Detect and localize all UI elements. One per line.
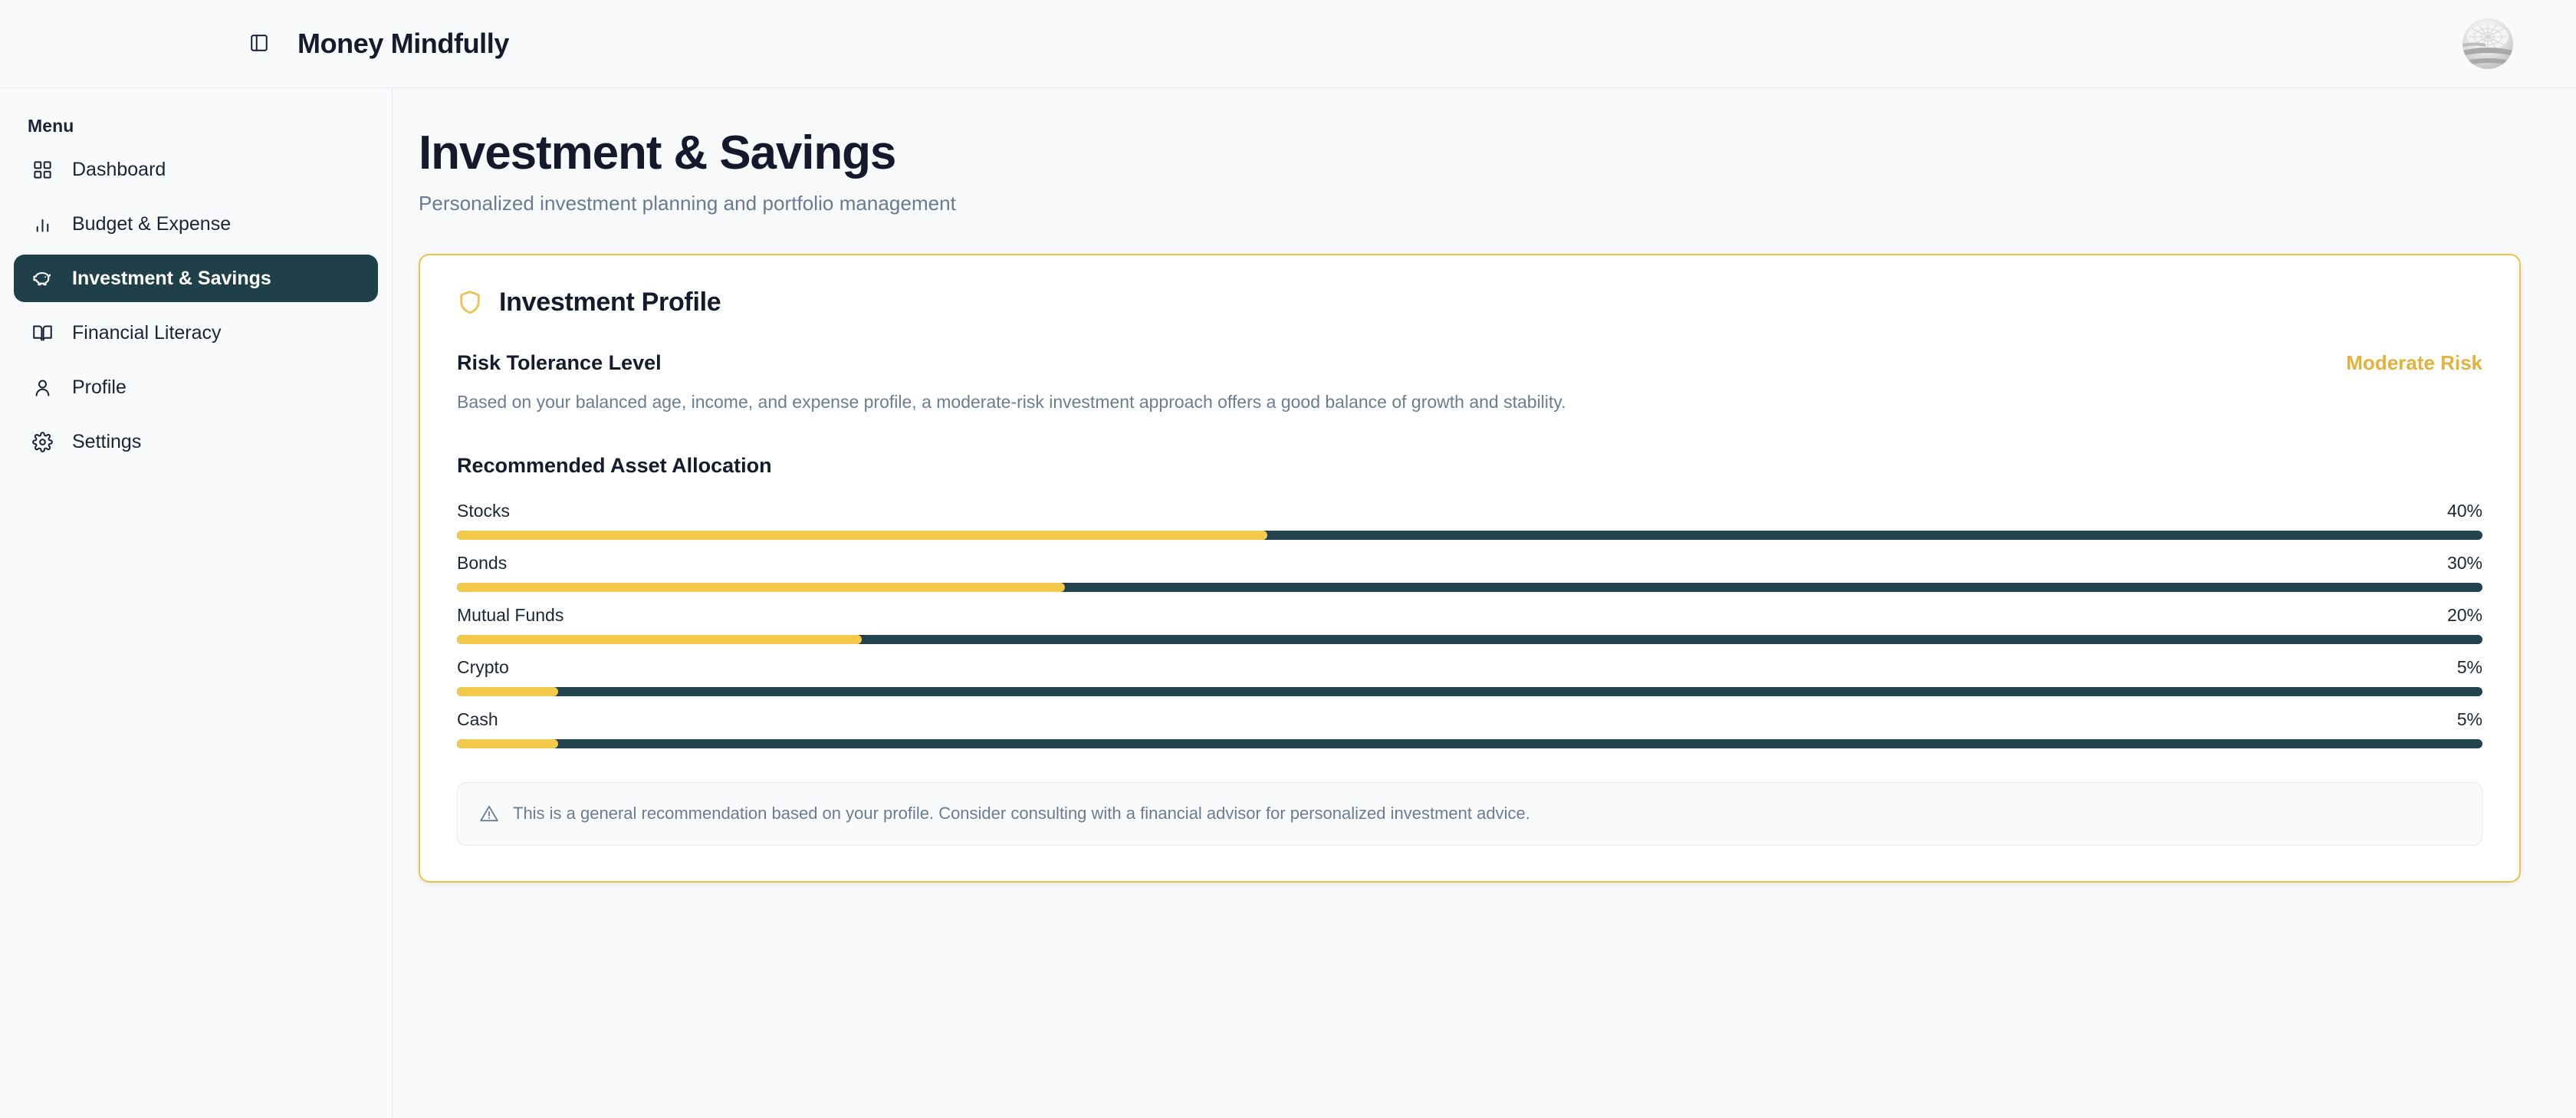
app-root: Money Mindfully — [0, 0, 2576, 1118]
risk-tolerance-row: Risk Tolerance Level Moderate Risk — [457, 351, 2482, 375]
allocation-row: Bonds30% — [457, 553, 2482, 592]
warning-triangle-icon — [479, 804, 499, 824]
risk-level-badge: Moderate Risk — [2346, 351, 2482, 375]
allocation-bar-fill — [457, 635, 862, 644]
sidebar-item-investment-savings[interactable]: Investment & Savings — [14, 255, 378, 302]
user-avatar — [2463, 18, 2513, 69]
allocation-row: Cash5% — [457, 709, 2482, 748]
sidebar-item-label: Settings — [72, 431, 141, 453]
page-subtitle: Personalized investment planning and por… — [419, 192, 2521, 215]
allocation-bar-fill — [457, 583, 1065, 592]
body-area: Menu Dashboard — [0, 88, 2576, 1118]
allocation-bar-fill — [457, 531, 1267, 540]
bar-chart-icon — [31, 212, 54, 235]
allocation-percent-value: 40% — [2447, 501, 2482, 521]
top-bar-left: Money Mindfully — [0, 28, 509, 60]
sidebar-item-settings[interactable]: Settings — [14, 418, 378, 465]
risk-description: Based on your balanced age, income, and … — [457, 390, 2482, 414]
app-title: Money Mindfully — [297, 28, 509, 60]
allocation-row-header: Bonds30% — [457, 553, 2482, 574]
sidebar-item-financial-literacy[interactable]: Financial Literacy — [14, 309, 378, 357]
avatar[interactable] — [2463, 18, 2513, 69]
page-title: Investment & Savings — [419, 128, 2521, 179]
allocation-row-header: Stocks40% — [457, 501, 2482, 521]
shield-icon — [457, 289, 483, 315]
allocation-bar-fill — [457, 687, 558, 696]
allocation-bar-track — [457, 531, 2482, 540]
disclaimer-text: This is a general recommendation based o… — [513, 803, 1530, 825]
sidebar-item-profile[interactable]: Profile — [14, 363, 378, 411]
user-icon — [31, 376, 54, 399]
allocation-asset-name: Mutual Funds — [457, 605, 563, 626]
allocation-row-header: Mutual Funds20% — [457, 605, 2482, 626]
allocation-row: Stocks40% — [457, 501, 2482, 540]
allocation-row-header: Crypto5% — [457, 657, 2482, 678]
allocation-row-header: Cash5% — [457, 709, 2482, 730]
book-open-icon — [31, 321, 54, 344]
sidebar-item-label: Investment & Savings — [72, 268, 271, 290]
allocation-asset-name: Bonds — [457, 553, 507, 574]
sidebar-item-label: Profile — [72, 377, 127, 399]
allocation-bar-track — [457, 635, 2482, 644]
allocation-row: Mutual Funds20% — [457, 605, 2482, 644]
allocation-row: Crypto5% — [457, 657, 2482, 696]
asset-allocation-list: Stocks40%Bonds30%Mutual Funds20%Crypto5%… — [457, 501, 2482, 748]
sidebar-toggle-icon — [249, 33, 269, 55]
sidebar-section-label: Menu — [14, 116, 378, 146]
sidebar-item-dashboard[interactable]: Dashboard — [14, 146, 378, 193]
card-title: Investment Profile — [499, 288, 721, 317]
investment-profile-card: Investment Profile Risk Tolerance Level … — [419, 254, 2521, 883]
sidebar: Menu Dashboard — [0, 88, 393, 1118]
card-header: Investment Profile — [457, 288, 2482, 317]
sidebar-item-label: Budget & Expense — [72, 213, 231, 235]
allocation-percent-value: 30% — [2447, 553, 2482, 574]
allocation-bar-track — [457, 583, 2482, 592]
top-bar: Money Mindfully — [0, 0, 2576, 88]
risk-tolerance-label: Risk Tolerance Level — [457, 351, 662, 375]
sidebar-item-label: Financial Literacy — [72, 322, 222, 344]
allocation-percent-value: 5% — [2457, 709, 2482, 730]
allocation-bar-fill — [457, 739, 558, 748]
grid-icon — [31, 158, 54, 181]
allocation-percent-value: 20% — [2447, 605, 2482, 626]
sidebar-toggle-button[interactable] — [244, 28, 274, 59]
gear-icon — [31, 430, 54, 453]
allocation-asset-name: Crypto — [457, 657, 509, 678]
allocation-bar-track — [457, 739, 2482, 748]
disclaimer-box: This is a general recommendation based o… — [457, 782, 2482, 846]
piggy-bank-icon — [31, 267, 54, 290]
allocation-percent-value: 5% — [2457, 657, 2482, 678]
allocation-bar-track — [457, 687, 2482, 696]
allocation-asset-name: Cash — [457, 709, 498, 730]
allocation-title: Recommended Asset Allocation — [457, 454, 2482, 478]
sidebar-item-budget-expense[interactable]: Budget & Expense — [14, 200, 378, 248]
allocation-asset-name: Stocks — [457, 501, 510, 521]
sidebar-item-label: Dashboard — [72, 159, 166, 181]
main-content: Investment & Savings Personalized invest… — [393, 88, 2576, 1118]
